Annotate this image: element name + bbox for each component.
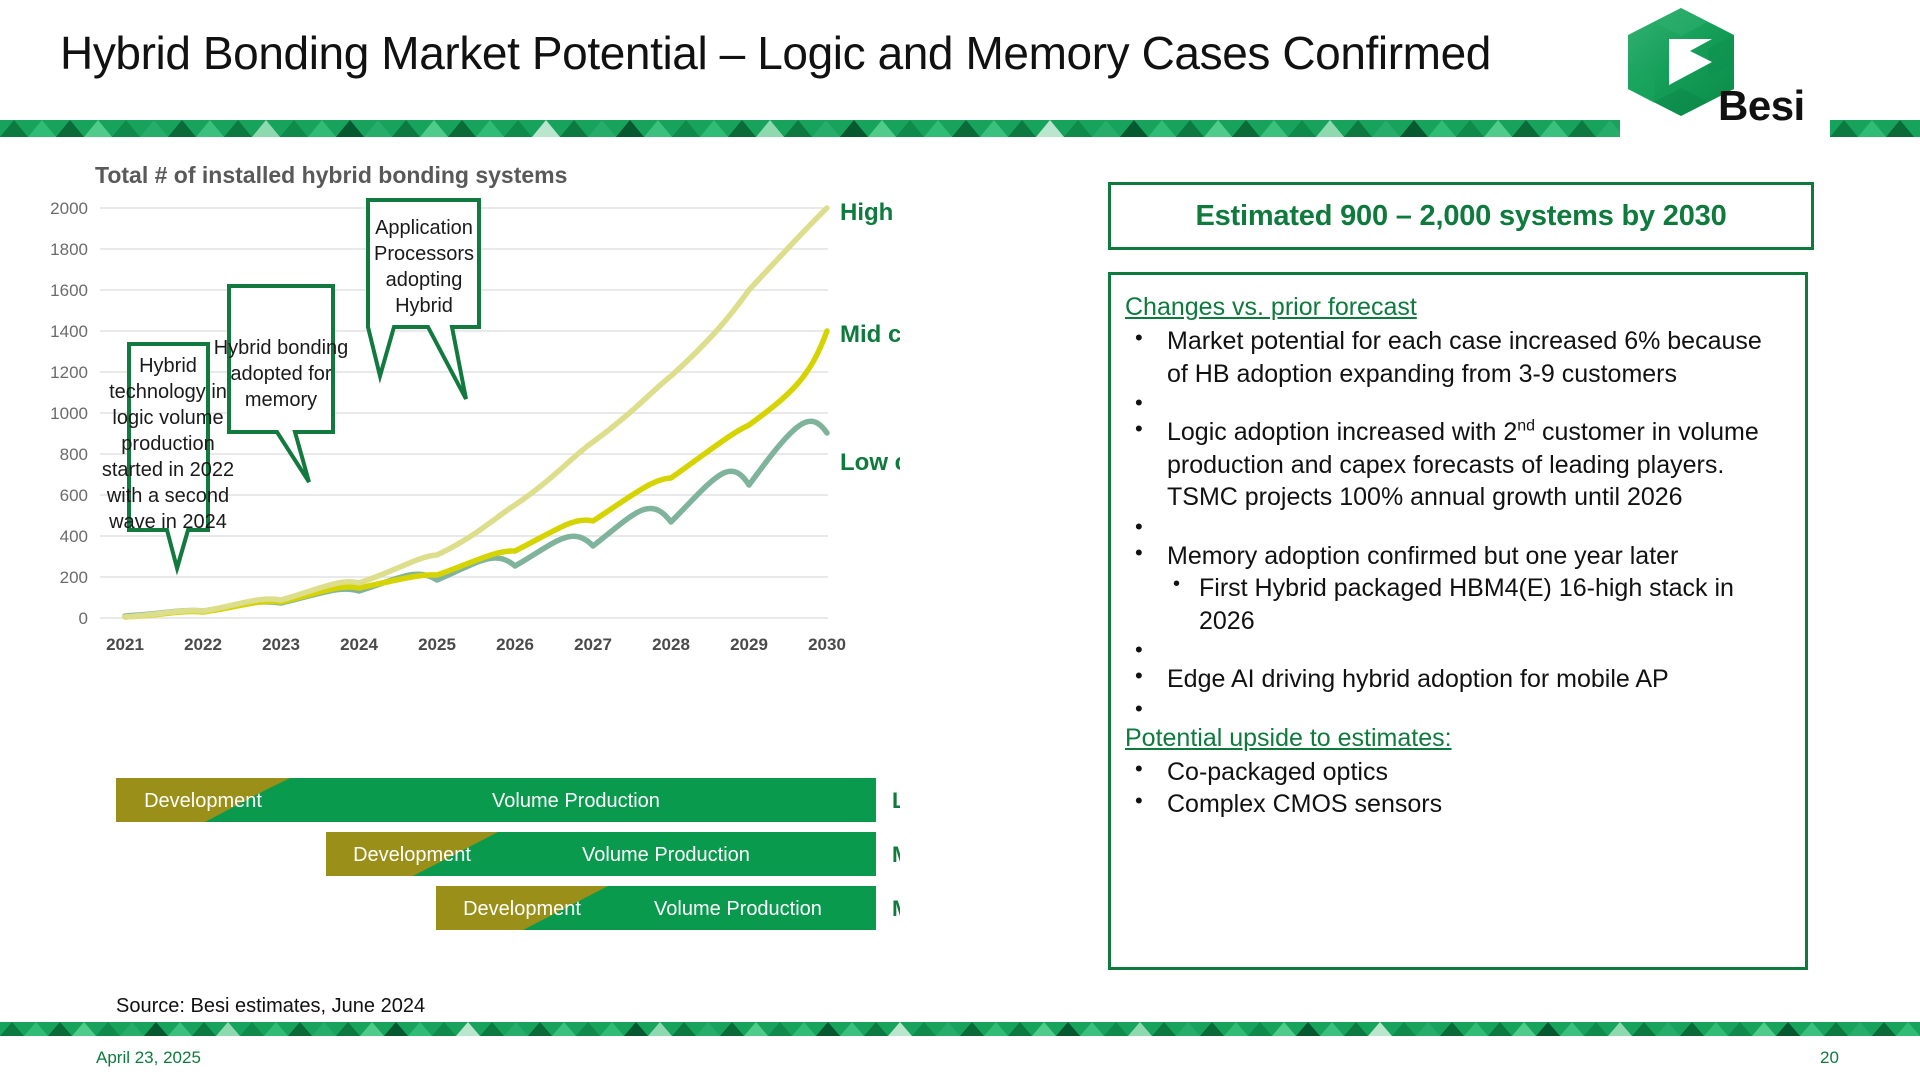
svg-text:started in 2022: started in 2022 [102,459,234,481]
svg-text:800: 800 [60,445,88,464]
legend-low-case: Low case [840,449,900,476]
svg-text:1400: 1400 [50,322,88,341]
callout-logic: Hybrid technology in logic volume produc… [102,344,234,568]
details-box: Changes vs. prior forecast Market potent… [1108,272,1808,970]
bullet-complex-cmos-sensors: Complex CMOS sensors [1125,788,1783,821]
callout-memory: Hybrid bonding adopted for memory [214,286,349,482]
footer-date: April 23, 2025 [96,1048,201,1068]
svg-text:0: 0 [79,609,88,628]
callout-application-processors: Application Processors adopting Hybrid [368,200,479,399]
timeline-memory-vp-label: Volume Production [582,844,750,866]
chart-plot: 2000 1800 1600 1400 1200 1000 800 600 40… [0,150,900,790]
timeline-ap-vp-label: Volume Production [654,898,822,920]
headline-box: Estimated 900 – 2,000 systems by 2030 [1108,182,1814,250]
svg-text:memory: memory [245,389,317,411]
source-note: Source: Besi estimates, June 2024 [116,995,425,1018]
bullet-memory-adoption: Memory adoption confirmed but one year l… [1125,540,1783,638]
svg-text:Hybrid bonding: Hybrid bonding [214,337,349,359]
changes-bullet-list: Market potential for each case increased… [1125,325,1783,722]
svg-text:2000: 2000 [50,199,88,218]
svg-text:2024: 2024 [340,635,378,654]
svg-text:200: 200 [60,568,88,587]
svg-text:1200: 1200 [50,363,88,382]
svg-text:2021: 2021 [106,635,144,654]
svg-text:600: 600 [60,486,88,505]
svg-text:2029: 2029 [730,635,768,654]
svg-text:2025: 2025 [418,635,456,654]
svg-text:Hybrid: Hybrid [395,295,453,317]
bullet-spacer-3 [1125,637,1783,663]
bullet-logic-part-a: Logic adoption increased with 2 [1167,418,1517,446]
timeline-logic-row-label: Logic [892,788,900,813]
svg-text:1000: 1000 [50,404,88,423]
hybrid-bonding-chart: Total # of installed hybrid bonding syst… [0,150,900,790]
besi-logo: Besi [1622,6,1822,134]
adoption-timeline: Development Volume Production Logic Deve… [0,770,900,950]
memory-sub-list: First Hybrid packaged HBM4(E) 16-high st… [1167,572,1783,637]
svg-text:2022: 2022 [184,635,222,654]
timeline-logic-vp-label: Volume Production [492,790,660,812]
timeline-row-memory: Development Volume Production Memory [326,832,900,876]
svg-text:400: 400 [60,527,88,546]
decorative-rule-bottom [0,1022,1920,1036]
timeline-row-logic: Development Volume Production Logic [116,778,900,822]
decorative-rule-top-left [0,120,1620,137]
svg-text:Processors: Processors [374,243,474,265]
timeline-logic-dev-label: Development [144,790,262,812]
svg-text:adopting: adopting [386,269,463,291]
series-low-case [125,421,827,616]
section-upside-title: Potential upside to estimates: [1125,722,1783,754]
timeline-memory-dev-label: Development [353,844,471,866]
svg-text:2026: 2026 [496,635,534,654]
section-changes-title: Changes vs. prior forecast [1125,291,1783,323]
timeline-memory-row-label: Memory [892,842,900,867]
legend-mid-case: Mid case [840,321,900,348]
svg-text:2030: 2030 [808,635,846,654]
svg-text:technology in: technology in [109,381,227,403]
svg-text:wave in 2024: wave in 2024 [108,511,227,533]
svg-text:logic volume: logic volume [112,407,223,429]
upside-bullet-list: Co-packaged optics Complex CMOS sensors [1125,756,1783,821]
svg-text:with a second: with a second [106,485,229,507]
bullet-market-potential: Market potential for each case increased… [1125,325,1783,390]
bullet-memory-text: Memory adoption confirmed but one year l… [1167,542,1678,570]
timeline-ap-row-label: Mobile AP [892,896,900,921]
svg-text:adopted for: adopted for [230,363,332,385]
footer-page-number: 20 [1820,1048,1839,1068]
timeline-ap-dev-label: Development [463,898,581,920]
bullet-logic-superscript: nd [1517,418,1535,435]
svg-text:1800: 1800 [50,240,88,259]
bullet-memory-sub-hbm4: First Hybrid packaged HBM4(E) 16-high st… [1167,572,1783,637]
besi-wordmark: Besi [1718,82,1805,130]
svg-text:1600: 1600 [50,281,88,300]
bullet-spacer-1 [1125,390,1783,416]
bullet-edge-ai: Edge AI driving hybrid adoption for mobi… [1125,663,1783,696]
timeline-row-mobile-ap: Development Volume Production Mobile AP [436,886,900,930]
svg-text:2023: 2023 [262,635,300,654]
svg-text:production: production [121,433,214,455]
bullet-co-packaged-optics: Co-packaged optics [1125,756,1783,789]
legend-high-case: High case [840,199,900,226]
headline-text: Estimated 900 – 2,000 systems by 2030 [1195,200,1726,233]
bullet-spacer-2 [1125,514,1783,540]
bullet-logic-adoption: Logic adoption increased with 2nd custom… [1125,416,1783,514]
svg-text:Application: Application [375,217,473,239]
decorative-rule-top-right [1830,120,1920,137]
page-title: Hybrid Bonding Market Potential – Logic … [60,26,1491,80]
svg-text:2027: 2027 [574,635,612,654]
bullet-spacer-4 [1125,696,1783,722]
svg-text:Hybrid: Hybrid [139,355,197,377]
svg-text:2028: 2028 [652,635,690,654]
